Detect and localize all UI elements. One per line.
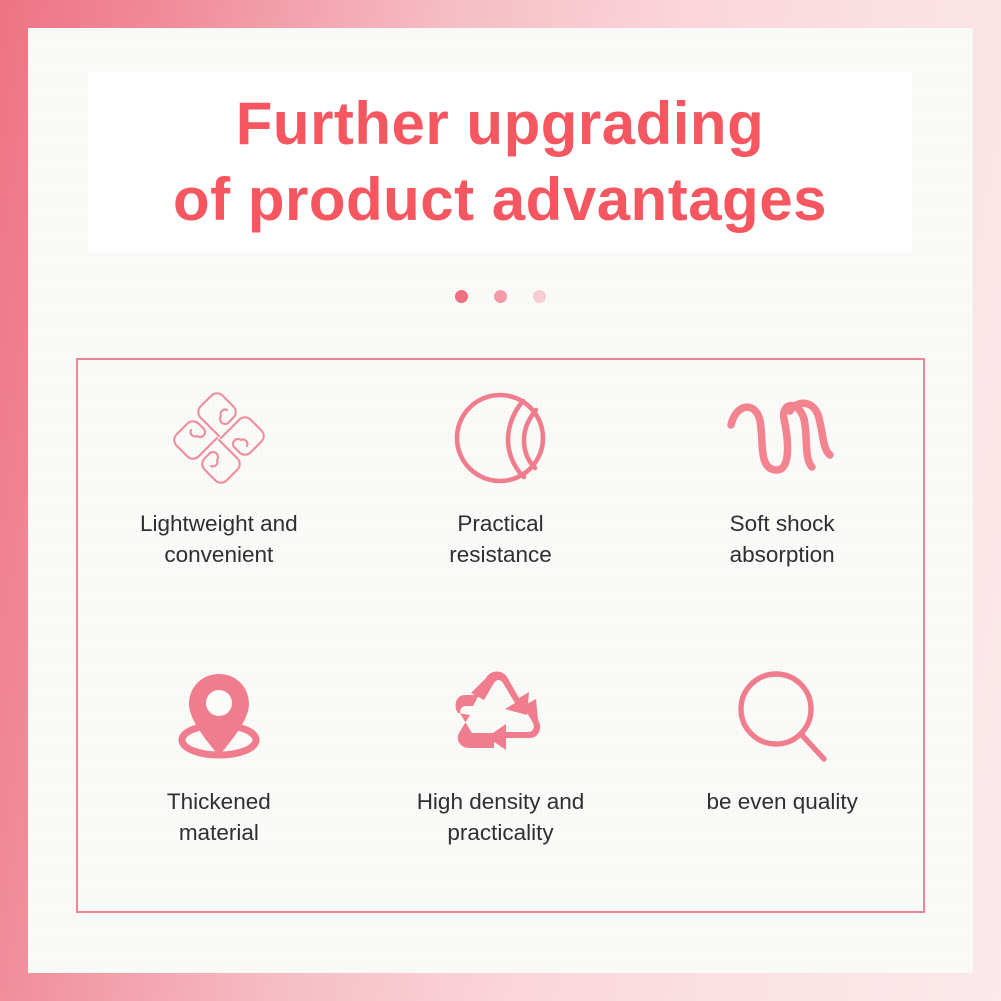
recycle-icon: [440, 660, 560, 772]
location-pin-icon: [159, 660, 279, 772]
dot-3-icon: [533, 290, 546, 303]
feature-grid: Lightweight and convenient Practical res…: [78, 360, 923, 911]
feature-cell-lightweight: Lightweight and convenient: [78, 360, 360, 636]
feature-cell-high-density: High density and practicality: [360, 636, 642, 912]
page-title-line-2: of product advantages: [173, 162, 827, 238]
poster-canvas: Further upgrading of product advantages: [28, 28, 973, 973]
feature-cell-even-quality: be even quality: [641, 636, 923, 912]
feature-cell-shock-absorption: Soft shock absorption: [641, 360, 923, 636]
magnifier-icon: [722, 660, 842, 772]
feature-cell-practical-resistance: Practical resistance: [360, 360, 642, 636]
feature-label: Lightweight and convenient: [140, 508, 298, 570]
feature-frame: Lightweight and convenient Practical res…: [76, 358, 925, 913]
four-petal-knot-icon: [159, 382, 279, 494]
feature-cell-thickened-material: Thickened material: [78, 636, 360, 912]
feature-label: Thickened material: [167, 786, 271, 848]
dot-1-icon: [455, 290, 468, 303]
feature-label: Practical resistance: [449, 508, 552, 570]
decorative-dots: [28, 290, 973, 303]
poster-root: Further upgrading of product advantages: [0, 0, 1001, 1001]
ball-resistance-icon: [440, 382, 560, 494]
feature-label: Soft shock absorption: [730, 508, 835, 570]
page-title-line-1: Further upgrading: [236, 86, 764, 162]
wave-spring-icon: [722, 382, 842, 494]
feature-label: be even quality: [706, 786, 857, 817]
dot-2-icon: [494, 290, 507, 303]
title-band: Further upgrading of product advantages: [88, 72, 912, 252]
feature-label: High density and practicality: [417, 786, 585, 848]
